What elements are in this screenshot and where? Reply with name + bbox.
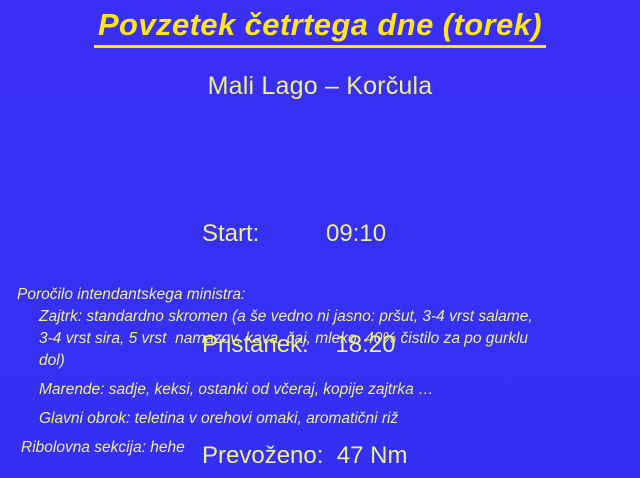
report-item-zajtrk-line1: Zajtrk: standardno skromen (a še vedno n…	[31, 306, 627, 328]
slide-subtitle-row: Mali Lago – Korčula	[0, 72, 640, 101]
report-block: Poročilo intendantskega ministra: Zajtrk…	[0, 284, 640, 459]
report-heading: Poročilo intendantskega ministra:	[17, 284, 617, 306]
report-item-marende: Marende: sadje, keksi, ostanki od včeraj…	[31, 379, 627, 401]
slide-subtitle: Mali Lago – Korčula	[208, 72, 433, 100]
stat-start: Start: 09:10	[202, 215, 407, 252]
report-item-glavni-obrok: Glavni obrok: teletina v orehovi omaki, …	[31, 408, 627, 430]
report-item-zajtrk-line2: 3-4 vrst sira, 5 vrst namazov, kava, čaj…	[39, 328, 619, 350]
report-footer-ribolovna: Ribolovna sekcija: hehe	[21, 437, 621, 459]
presentation-slide: Povzetek četrtega dne (torek) Mali Lago …	[0, 0, 640, 478]
report-item-zajtrk-line3: dol)	[39, 350, 619, 372]
slide-title: Povzetek četrtega dne (torek)	[94, 8, 546, 48]
slide-title-row: Povzetek četrtega dne (torek)	[0, 8, 640, 48]
